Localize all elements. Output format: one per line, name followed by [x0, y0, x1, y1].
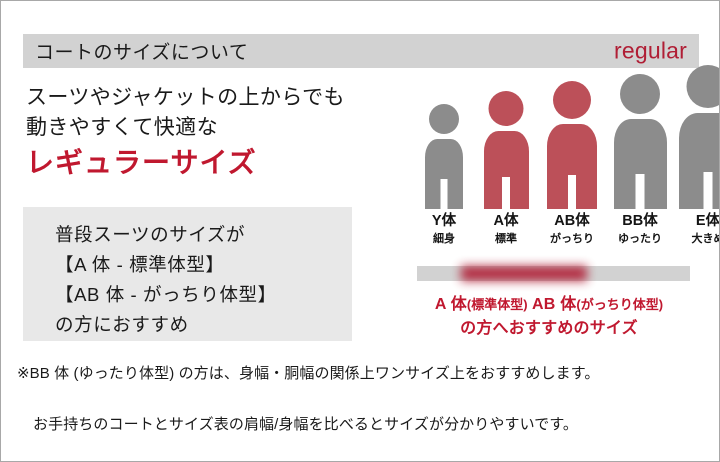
- body-type-figure: [484, 91, 529, 209]
- body-type-code: Y体: [409, 213, 479, 230]
- size-range-caption: A 体(標準体型) AB 体(がっちり体型) の方へおすすめのサイズ: [399, 293, 699, 341]
- body-type-description: 標準: [471, 232, 541, 246]
- recommendation-panel: 普段スーツのサイズが 【A 体 - 標準体型】 【AB 体 - がっちり体型】 …: [23, 207, 352, 341]
- body-type-label: BB体ゆったり: [605, 213, 675, 246]
- body-type-figure: [547, 81, 597, 209]
- recommendation-line-1: 普段スーツのサイズが: [55, 220, 277, 250]
- caption-code-ab: AB 体: [532, 296, 576, 313]
- figure-head-icon: [429, 104, 459, 134]
- figure-leg-gap: [636, 174, 645, 209]
- figure-head-icon: [687, 65, 720, 108]
- body-type-description: 細身: [409, 232, 479, 246]
- lead-line-2: 動きやすくて快適な: [26, 113, 426, 143]
- body-type-code: AB体: [537, 213, 607, 230]
- caption-code-a: A 体: [435, 296, 467, 313]
- recommendation-line-3: 【AB 体 - がっちり体型】: [55, 280, 277, 310]
- body-type-code: A体: [471, 213, 541, 230]
- recommendation-line-4: の方におすすめ: [55, 310, 277, 340]
- size-range-caption-line-1: A 体(標準体型) AB 体(がっちり体型): [399, 293, 699, 317]
- recommendation-line-2: 【A 体 - 標準体型】: [55, 250, 277, 280]
- header-bar: コートのサイズについて regular: [23, 34, 699, 68]
- body-type-label-group: Y体細身A体標準AB体がっちりBB体ゆったりE体大きめ: [416, 213, 700, 255]
- caption-desc-ab: (がっちり体型): [576, 297, 663, 312]
- size-range-caption-line-2: の方へおすすめのサイズ: [399, 317, 699, 341]
- body-type-label: A体標準: [471, 213, 541, 246]
- body-type-code: E体: [673, 213, 720, 230]
- lead-line-1: スーツやジャケットの上からでも: [26, 83, 426, 113]
- body-type-code: BB体: [605, 213, 675, 230]
- lead-copy: スーツやジャケットの上からでも 動きやすくて快適な レギュラーサイズ: [26, 83, 426, 180]
- figure-head-icon: [553, 81, 591, 119]
- body-type-description: がっちり: [537, 232, 607, 246]
- body-type-label: E体大きめ: [673, 213, 720, 246]
- body-type-description: 大きめ: [673, 232, 720, 246]
- caption-desc-a: (標準体型): [467, 297, 528, 312]
- body-type-label: Y体細身: [409, 213, 479, 246]
- lead-emphasis: レギュラーサイズ: [26, 145, 426, 181]
- figure-leg-gap: [441, 179, 448, 209]
- body-type-figure: [425, 104, 463, 209]
- size-range-bar-fill: [461, 266, 587, 281]
- figure-head-icon: [489, 91, 524, 126]
- fit-type-kicker: regular: [614, 38, 687, 65]
- footnote-bb-size: ※BB 体 (ゆったり体型) の方は、身幅・胴幅の関係上ワンサイズ上をおすすめし…: [17, 362, 599, 383]
- body-type-figure-group: [416, 85, 700, 209]
- body-type-figure: [679, 65, 720, 209]
- body-type-description: ゆったり: [605, 232, 675, 246]
- figure-head-icon: [620, 74, 660, 114]
- figure-leg-gap: [502, 177, 510, 209]
- footnote-measure-tip: お手持ちのコートとサイズ表の肩幅/身幅を比べるとサイズが分かりやすいです。: [33, 413, 578, 434]
- size-range-bar: [417, 266, 690, 281]
- recommendation-panel-text: 普段スーツのサイズが 【A 体 - 標準体型】 【AB 体 - がっちり体型】 …: [55, 220, 277, 340]
- figure-leg-gap: [568, 175, 576, 209]
- figure-leg-gap: [704, 172, 713, 209]
- figure-body-icon: [679, 113, 720, 209]
- size-guide-infographic: コートのサイズについて regular スーツやジャケットの上からでも 動きやす…: [0, 0, 720, 462]
- body-type-label: AB体がっちり: [537, 213, 607, 246]
- body-type-figure: [614, 74, 667, 209]
- page-title: コートのサイズについて: [35, 38, 248, 65]
